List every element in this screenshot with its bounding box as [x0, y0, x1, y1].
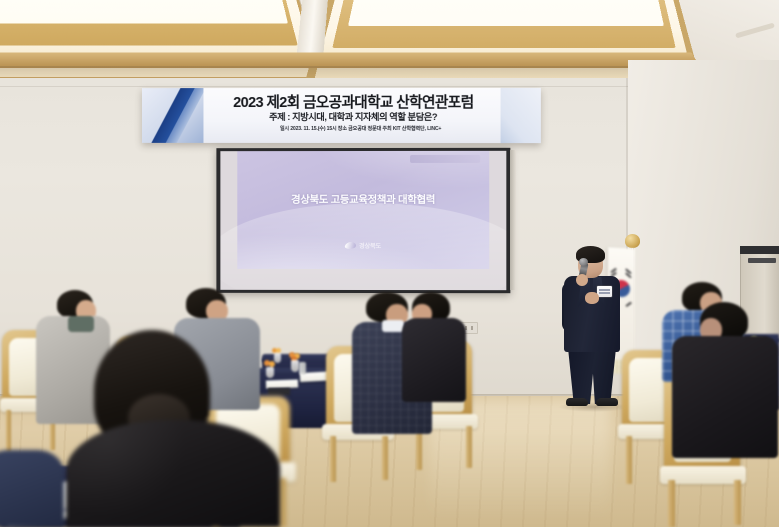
flag-finial-icon	[625, 234, 640, 248]
attendee-torso	[402, 318, 466, 402]
flower-vase	[274, 353, 281, 363]
cove-light-left	[0, 0, 288, 24]
banner-left-graphic	[142, 88, 204, 143]
ceiling-coffer-divider	[297, 0, 329, 55]
cabinet-top-panel	[740, 246, 779, 254]
flower-vase	[291, 360, 299, 372]
event-banner: 2023 제2회 금오공과대학교 산학연관포럼 주제 : 지방시대, 대학과 지…	[142, 88, 541, 143]
attendee-torso	[66, 420, 280, 527]
water-bottle	[299, 362, 306, 375]
attendee-collar	[68, 316, 94, 332]
banner-right-graphic	[501, 88, 541, 143]
slide-footer-logo-text: 경상북도	[359, 243, 381, 250]
screen-surface: 경상북도 고등교육정책과 대학협력 경상북도	[220, 151, 506, 290]
cabinet-vent-slot	[748, 258, 776, 263]
speaker-name-badge	[597, 286, 612, 297]
table-flower-arrangement	[272, 348, 285, 364]
banner-subtitle: 주제 : 지방시대, 대학과 지자체의 역할 분담은?	[203, 109, 503, 123]
flower-vase	[266, 367, 274, 378]
attendee-shirt-collar	[382, 320, 404, 332]
slide-footer-logo: 경상북도	[237, 237, 489, 255]
speaker-right-hand	[585, 292, 599, 304]
banner-meta-line: 일시 2023. 11. 15.(수) 15시 장소 금오공대 정문대 주최 K…	[203, 125, 518, 132]
attendee-torso	[0, 450, 64, 527]
speaker-right-shoe	[596, 398, 618, 406]
printed-handout	[268, 388, 290, 395]
speaker-left-shoe	[566, 398, 588, 406]
slide-title: 경상북도 고등교육정책과 대학협력	[237, 191, 489, 206]
presentation-slide: 경상북도 고등교육정책과 대학협력 경상북도	[237, 151, 489, 269]
cove-light-right	[348, 0, 664, 26]
screen-side-edge	[510, 150, 516, 290]
speaker-left-hand	[576, 274, 588, 286]
microphone-capsule-icon	[579, 258, 588, 266]
projection-screen: 경상북도 고등교육정책과 대학협력 경상북도	[216, 148, 510, 293]
attendee-torso	[672, 336, 778, 458]
organization-wordmark-icon	[410, 155, 480, 163]
province-emblem-icon	[344, 242, 356, 249]
wall-seam	[0, 86, 628, 87]
conference-hall-photo: 2023 제2회 금오공과대학교 산학연관포럼 주제 : 지방시대, 대학과 지…	[0, 0, 779, 527]
